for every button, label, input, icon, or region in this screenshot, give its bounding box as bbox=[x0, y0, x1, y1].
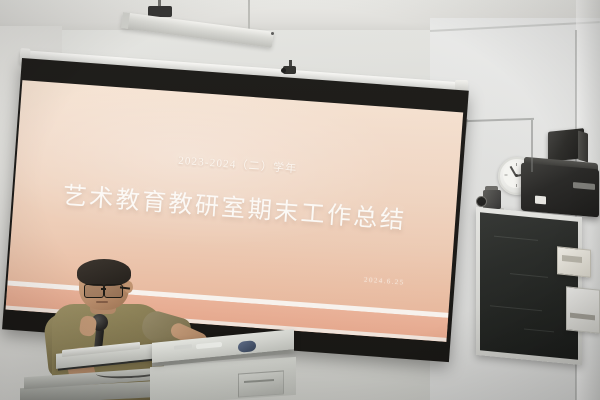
clock-tick bbox=[516, 163, 517, 166]
podium-front-panel bbox=[238, 370, 284, 397]
clock-tick bbox=[516, 185, 517, 188]
chalk-smudge bbox=[494, 236, 538, 241]
clock-center-pin bbox=[515, 174, 518, 177]
classroom-photo: 2023-2024（二）学年 艺术教育教研室期末工作总结 2024.6.25 bbox=[0, 0, 600, 400]
wall-conduit-vertical bbox=[531, 120, 533, 172]
light-fitting-screw bbox=[271, 32, 274, 35]
glasses-lens-left bbox=[84, 284, 104, 298]
wall-control-box-lower bbox=[566, 286, 600, 334]
slide-date: 2024.6.25 bbox=[364, 276, 405, 287]
wall-speaker-small-side bbox=[578, 130, 588, 162]
chalk-smudge bbox=[524, 329, 554, 333]
camera-lens-icon bbox=[476, 196, 487, 207]
chalk-smudge bbox=[490, 305, 542, 311]
glasses-bridge bbox=[101, 288, 106, 290]
presenter-mouth bbox=[96, 301, 108, 303]
presenter-hair bbox=[77, 259, 131, 286]
chalk-smudge bbox=[510, 273, 548, 278]
camera-lens-icon bbox=[281, 68, 286, 73]
clock-tick bbox=[504, 175, 507, 176]
wall-speaker-large-icon bbox=[521, 163, 599, 218]
blackboard-surface bbox=[480, 212, 578, 359]
speaker-badge bbox=[535, 196, 546, 205]
